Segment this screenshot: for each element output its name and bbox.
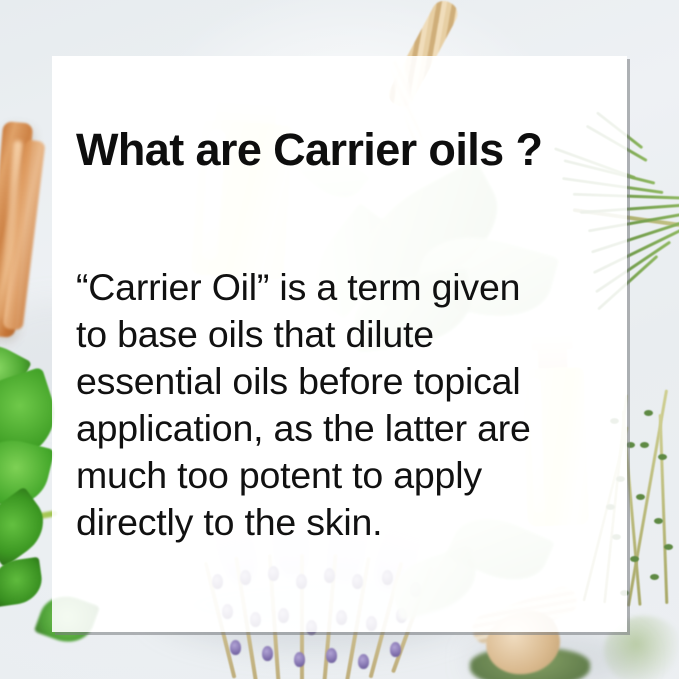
graphic-canvas: What are Carrier oils ? “Carrier Oil” is…	[0, 0, 679, 679]
text-overlay-card: What are Carrier oils ? “Carrier Oil” is…	[52, 56, 627, 632]
body-line: much too potent to apply	[76, 452, 616, 499]
body-line: application, as the latter are	[76, 405, 616, 452]
body-line: to base oils that dilute	[76, 311, 616, 358]
body-line: essential oils before topical	[76, 358, 616, 405]
page-title: What are Carrier oils ?	[76, 124, 610, 176]
mint-leaf	[0, 557, 45, 608]
body-line: “Carrier Oil” is a term given	[76, 264, 616, 311]
mint-leaf	[0, 486, 56, 567]
body-line: directly to the skin.	[76, 499, 616, 546]
body-paragraph: “Carrier Oil” is a term given to base oi…	[76, 264, 616, 546]
